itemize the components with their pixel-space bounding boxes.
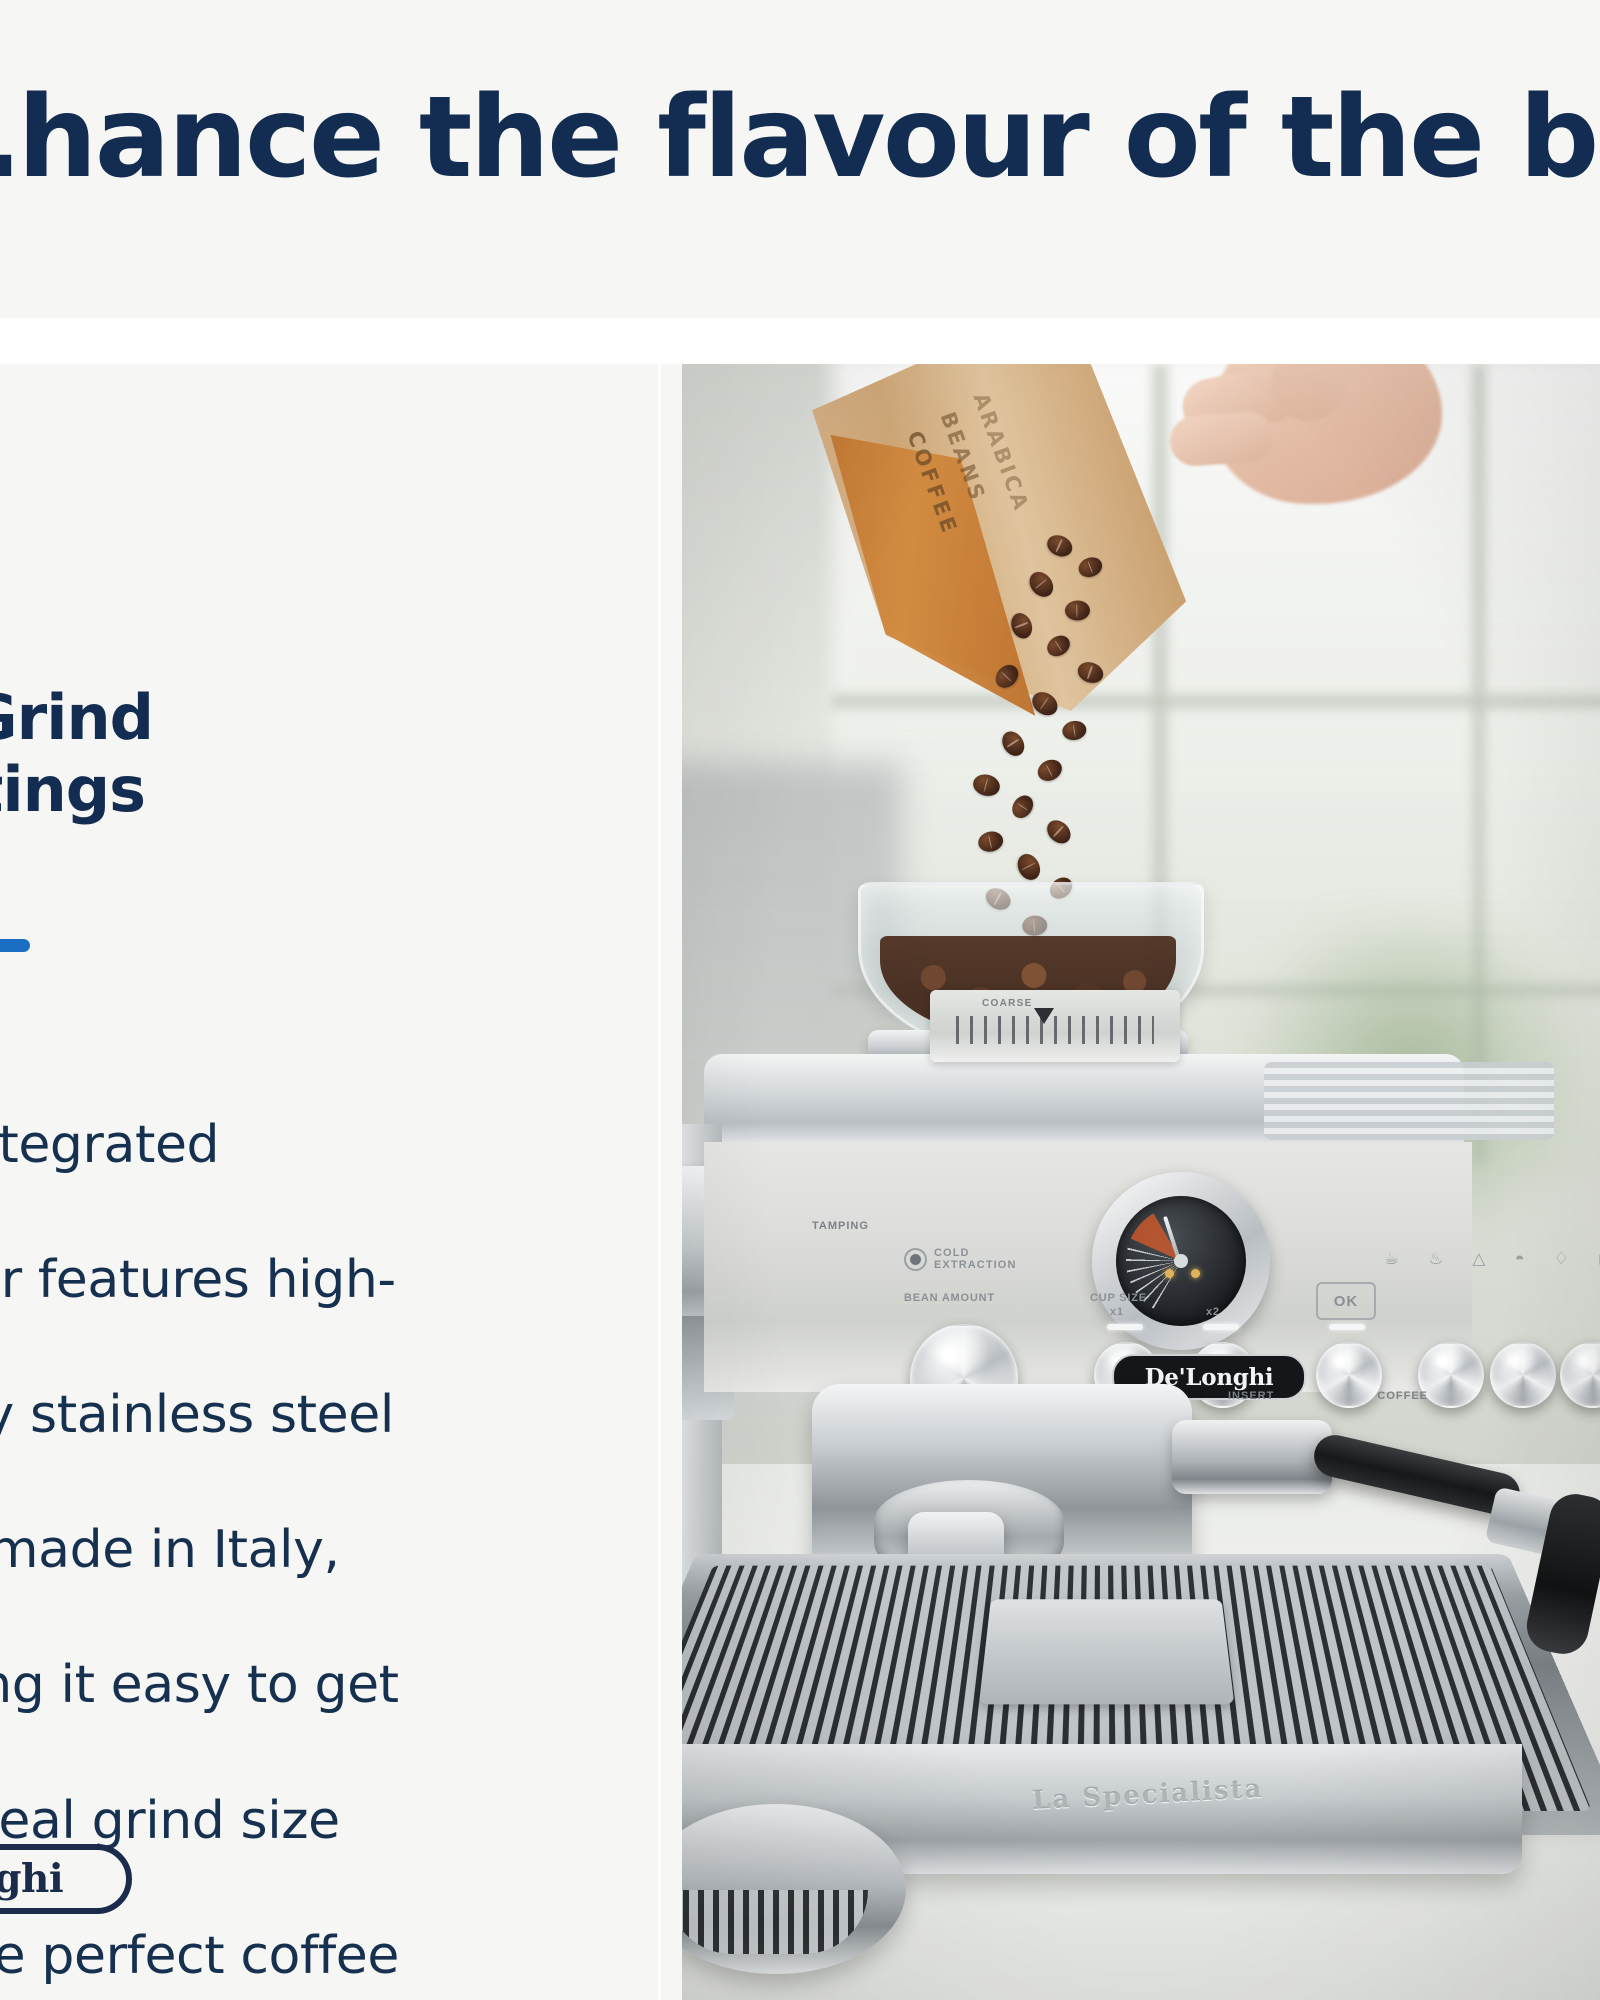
warning-icon: △: [1472, 1249, 1485, 1269]
coffee-bean: [1076, 554, 1105, 580]
section-subheading: 5 Grindettings: [0, 682, 660, 826]
x1-indicator: [1107, 1324, 1143, 1330]
cold-extraction-icon: [904, 1248, 927, 1271]
text-panel: 5 Grindettings e integrated nder feature…: [0, 364, 660, 2000]
function-button-2[interactable]: [1490, 1342, 1556, 1408]
portafilter-coffee-label: COFFEE: [1377, 1390, 1428, 1402]
cold-extraction-badge: COLD EXTRACTION: [904, 1246, 1054, 1272]
portafilter-head: [1172, 1420, 1332, 1494]
page-headline: …hance the flavour of the bean…: [0, 78, 1600, 199]
cup-size-label: CUP SIZE: [1090, 1292, 1147, 1304]
coffee-bean: [998, 727, 1029, 760]
coffee-bean: [991, 660, 1023, 692]
cup-icon: ☕: [1384, 1249, 1399, 1269]
content-area: 5 Grindettings e integrated nder feature…: [0, 364, 1600, 2000]
x2-indicator: [1203, 1324, 1239, 1330]
delonghi-wordmark: onghi: [0, 1856, 63, 1902]
coffee-bean: [1008, 610, 1036, 641]
body-line-7: r the perfect coffee: [0, 1926, 399, 1986]
accessory-puck-grill: [682, 1890, 868, 1954]
coffee-bean: [1043, 631, 1073, 660]
drip-tray-plate: [979, 1599, 1234, 1704]
subheading-line-1: 5 Grind: [0, 681, 153, 754]
body-line-6: e ideal grind size: [0, 1791, 340, 1851]
gauge-face: [1116, 1196, 1246, 1326]
header-divider: [0, 318, 1600, 364]
finger: [1168, 410, 1275, 467]
delonghi-logo: onghi: [0, 1844, 132, 1914]
steam-icon: ♨: [1428, 1249, 1443, 1269]
accent-divider: [0, 939, 30, 952]
control-panel: COLD EXTRACTION ☕: [704, 1142, 1472, 1392]
ok-indicator: [1329, 1324, 1365, 1330]
function-dial[interactable]: [1560, 1342, 1600, 1408]
milk-icon: ◓: [1514, 1249, 1524, 1269]
column-divider: [658, 364, 661, 2000]
x1-label: x1: [1110, 1306, 1124, 1318]
coffee-bean: [971, 772, 1003, 799]
tamping-label: TAMPING: [812, 1220, 869, 1232]
product-photo: COFFEE BEANS ARABICA: [682, 364, 1600, 2000]
coffee-bean: [1061, 719, 1088, 742]
grind-size-dial[interactable]: COARSE: [930, 990, 1180, 1062]
header-band: …hance the flavour of the bean…: [0, 0, 1600, 318]
body-line-2: nder features high-: [0, 1250, 396, 1310]
bean-amount-label: BEAN AMOUNT: [904, 1292, 995, 1304]
cup-warming-grooves: [1264, 1062, 1554, 1140]
grind-scale-ticks: [956, 1016, 1154, 1044]
body-line-4: rrs made in Italy,: [0, 1520, 340, 1580]
status-icon-row: ☕ ♨ △ ◓ ♢ ▢: [1384, 1246, 1600, 1272]
body-line-1: e integrated: [0, 1115, 219, 1175]
cold-extraction-label: COLD EXTRACTION: [934, 1247, 1054, 1271]
coffee-bean: [1065, 600, 1090, 620]
coffee-bean: [1028, 687, 1062, 720]
coffee-bean: [1043, 816, 1076, 848]
x2-label: x2: [1206, 1306, 1220, 1318]
machine-top: [704, 1054, 1464, 1146]
coffee-bean: [976, 829, 1005, 854]
ok-label: OK: [1316, 1282, 1376, 1320]
portafilter[interactable]: [1172, 1420, 1502, 1540]
gauge-hub: [1174, 1254, 1188, 1268]
subheading-line-2: ettings: [0, 753, 145, 826]
grind-pointer-icon: [1034, 1008, 1054, 1024]
slide-root: …hance the flavour of the bean… 5 Grinde…: [0, 0, 1600, 2000]
coffee-bean: [1034, 756, 1065, 785]
photo-scene: COFFEE BEANS ARABICA: [682, 364, 1600, 2000]
coffee-bean: [1075, 659, 1106, 686]
coffee-bean: [1025, 567, 1058, 601]
body-line-5: aking it easy to get: [0, 1655, 399, 1715]
portafilter-labels: INSERT COFFEE: [1228, 1390, 1428, 1402]
coffee-bean: [1044, 531, 1076, 560]
coffee-bean: [1013, 850, 1044, 884]
grind-dial-caption: COARSE: [982, 998, 1033, 1009]
drop-icon: ♢: [1554, 1249, 1569, 1269]
coffee-bean: [1008, 791, 1037, 822]
body-line-3: ality stainless steel: [0, 1385, 394, 1445]
portafilter-insert-label: INSERT: [1228, 1390, 1274, 1402]
